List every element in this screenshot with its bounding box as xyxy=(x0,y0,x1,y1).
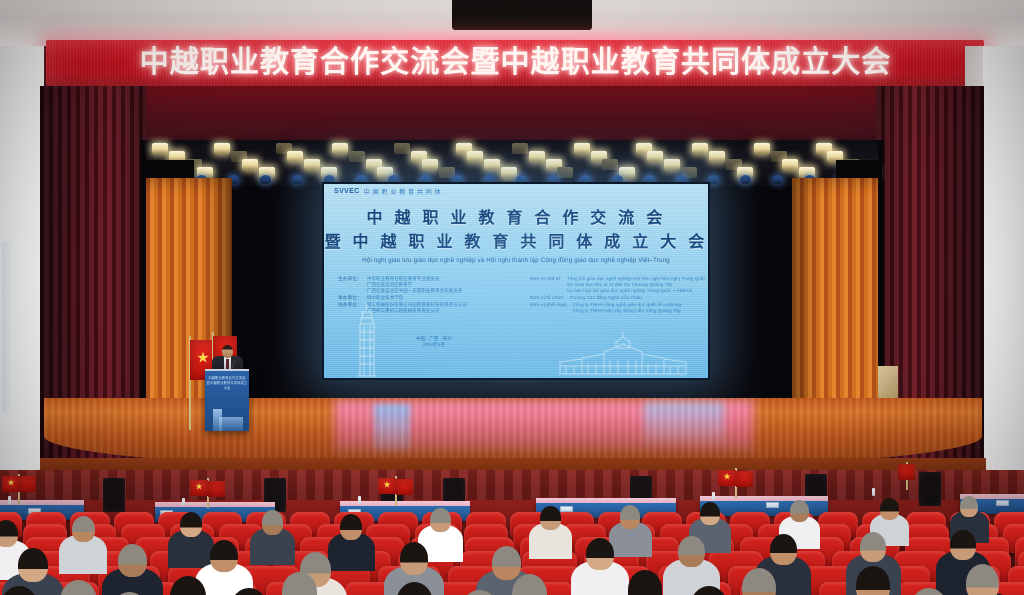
audience-member-head xyxy=(678,536,705,567)
led-screen: SVVEC 中 国 职 业 教 育 共 同 体 中 越 职 业 教 育 合 作 … xyxy=(322,182,710,380)
audience-member-head xyxy=(400,542,428,575)
podium-text-line2: 暨中越职业教育共同体成立大会 xyxy=(205,381,249,391)
audience-member-head xyxy=(950,530,976,560)
stage-lamp xyxy=(304,159,320,170)
stage-lamp xyxy=(484,159,500,170)
name-card xyxy=(996,500,1009,506)
stage-lamp xyxy=(692,143,708,154)
stage-lamp xyxy=(664,159,680,170)
stage-lamp xyxy=(394,143,410,154)
stage-lamp xyxy=(501,167,517,178)
stage-lamp xyxy=(602,159,618,170)
audience-member-head xyxy=(72,516,95,542)
podium-text: 中越职业教育合作交流会 暨中越职业教育共同体成立大会 xyxy=(205,376,249,391)
banner-led-board: 中越职业教育合作交流会暨中越职业教育共同体成立大会 xyxy=(46,40,984,86)
audience-member-head xyxy=(790,500,809,522)
audience-member-head xyxy=(960,496,978,517)
organizer-key: Đơn vị chủ trì: xyxy=(530,276,562,282)
led-organizer-row: 主办单位： 中华职业教育社职业教育专业委员会 广西壮族自治区教育厅 广西壮族自治… xyxy=(338,276,502,294)
table-cloth xyxy=(700,496,828,501)
led-title-line2: 暨 中 越 职 业 教 育 共 同 体 成 立 大 会 xyxy=(324,234,708,250)
audience-member-head xyxy=(0,520,18,547)
podium: 中越职业教育合作交流会 暨中越职业教育共同体成立大会 xyxy=(205,369,249,431)
organizer-value: Công ty TNHH máy xây dựng Liễu Công Quản… xyxy=(573,308,682,314)
water-bottle xyxy=(872,488,875,496)
stage-lamp xyxy=(349,151,365,162)
led-organizer-row: Đơn vị phối hợp: Công ty TNHH công nghệ … xyxy=(530,302,694,314)
right-wall xyxy=(980,46,1024,516)
speaker-head xyxy=(222,345,233,358)
left-wall-panel xyxy=(2,242,10,412)
stage-lamp xyxy=(512,143,528,154)
audience-member-head xyxy=(700,502,720,525)
audience-member-head xyxy=(586,538,614,570)
water-bottle xyxy=(8,496,11,504)
organizer-values: Công ty TNHH công nghệ giáo dục quốc tế … xyxy=(573,302,682,314)
organizer-value: Trường Cao đẳng Nghề Liễu Châu xyxy=(570,295,642,301)
conference-hall-photo: 中越职业教育合作交流会暨中越职业教育共同体成立大会 SVVEC 中 国 职 业 … xyxy=(0,0,1024,595)
led-logo: SVVEC 中 国 职 业 教 育 共 同 体 xyxy=(334,187,441,196)
stage-lamp-blue xyxy=(260,175,271,184)
audience-member-head xyxy=(966,564,999,595)
stage-lamp xyxy=(467,151,483,162)
organizer-value: 广西壮族自治区中国—东盟职业教育合作委员会 xyxy=(367,288,462,294)
organizer-key: 承办单位： xyxy=(338,295,362,301)
stage-lamp xyxy=(754,143,770,154)
event-banner: 中越职业教育合作交流会暨中越职业教育共同体成立大会 xyxy=(40,38,990,90)
audience-member-head xyxy=(620,505,640,529)
name-card xyxy=(766,502,779,508)
water-bottle xyxy=(182,498,185,506)
led-organizer-row: 承办单位： 柳州职业技术学院 xyxy=(338,295,502,301)
led-organizer-vietnamese-column: Đơn vị chủ trì: Tổng hội giáo dục nghề n… xyxy=(530,276,694,326)
podium-top-surface xyxy=(205,369,249,371)
led-screen-surface: SVVEC 中 国 职 业 教 育 共 同 体 中 越 职 业 教 育 合 作 … xyxy=(324,184,708,378)
ceiling-vent-panel xyxy=(452,0,592,30)
stage-lamp-blue xyxy=(772,175,783,184)
stage-lamp-blue xyxy=(292,175,303,184)
loudspeaker xyxy=(103,478,125,512)
stage-lamp xyxy=(287,151,303,162)
led-subtitle-vietnamese: Hội nghị giao lưu giáo dục nghề nghiệp v… xyxy=(324,258,708,264)
vietnam-flag-star: ★ xyxy=(196,351,209,366)
led-date-text: 2024年9月 xyxy=(416,342,452,348)
organizer-value: 柳州职业技术学院 xyxy=(367,295,403,301)
led-organizer-row: Đơn vị tổ chức: Trường Cao đẳng Nghề Liễ… xyxy=(530,295,694,301)
stage-lamp-blue xyxy=(740,175,751,184)
led-date-location: 中国 · 广西 · 柳州 2024年9月 xyxy=(416,336,452,349)
left-wall xyxy=(0,46,44,516)
table-cloth xyxy=(155,502,275,507)
organizer-values: Trường Cao đẳng Nghề Liễu Châu xyxy=(570,295,642,301)
audience-member-head xyxy=(540,506,561,530)
audience-member-head xyxy=(430,508,451,532)
stage-lamp xyxy=(709,151,725,162)
stage-lamp xyxy=(557,167,573,178)
led-organizer-row: Đơn vị chủ trì: Tổng hội giáo dục nghề n… xyxy=(530,276,694,294)
audience-member-head xyxy=(340,514,362,540)
svvec-logo-text: SVVEC xyxy=(334,188,360,195)
stage-prop-box xyxy=(878,366,898,400)
audience-member-head xyxy=(492,546,521,580)
audience-member-head xyxy=(210,540,238,572)
stage-lamp xyxy=(422,159,438,170)
led-title-line1: 中 越 职 业 教 育 合 作 交 流 会 xyxy=(324,210,708,226)
colonial-building-icon xyxy=(552,332,694,376)
audience-member-head xyxy=(880,498,899,520)
stage-lamp xyxy=(529,151,545,162)
organizer-values: 柳州职业技术学院 xyxy=(367,295,403,301)
stage-lamp xyxy=(647,151,663,162)
audience-member-head xyxy=(860,532,886,562)
stage-lamp xyxy=(574,143,590,154)
water-bottle xyxy=(712,492,715,500)
stage-lamp xyxy=(152,143,168,154)
lighting-truss xyxy=(146,140,878,186)
led-logo-chinese: 中 国 职 业 教 育 共 同 体 xyxy=(364,187,442,196)
podium-building-graphic xyxy=(219,417,243,431)
organizer-key: Đơn vị phối hợp: xyxy=(530,302,567,308)
organizer-values: 中华职业教育社职业教育专业委员会 广西壮族自治区教育厅 广西壮族自治区中国—东盟… xyxy=(367,276,462,294)
gold-curtain-right xyxy=(792,178,878,430)
loudspeaker xyxy=(919,472,941,506)
audience-member-head xyxy=(856,566,890,595)
organizer-value: Ủy ban hợp tác giáo dục nghề nghiệp Trun… xyxy=(567,288,706,294)
audience-member-head xyxy=(118,544,147,577)
audience-member-head xyxy=(180,512,202,537)
organizer-key: Đơn vị tổ chức: xyxy=(530,295,564,301)
stage-lamp xyxy=(242,159,258,170)
table-cloth xyxy=(536,498,676,503)
audience-member-head xyxy=(262,510,283,535)
water-bottle xyxy=(358,496,361,504)
stage-lamp xyxy=(214,143,230,154)
banner-title-text: 中越职业教育合作交流会暨中越职业教育共同体成立大会 xyxy=(139,48,891,78)
organizer-values: Tổng hội giáo dục nghề nghiệp Hội hữu ng… xyxy=(567,276,706,294)
stage-lamp xyxy=(782,159,798,170)
audience-member-head xyxy=(770,534,797,565)
audience-member-head xyxy=(18,548,48,582)
table-cloth xyxy=(0,500,84,505)
tower-landmark-icon xyxy=(350,304,384,378)
stage-lamp xyxy=(332,143,348,154)
organizer-key: 主办单位： xyxy=(338,276,362,282)
